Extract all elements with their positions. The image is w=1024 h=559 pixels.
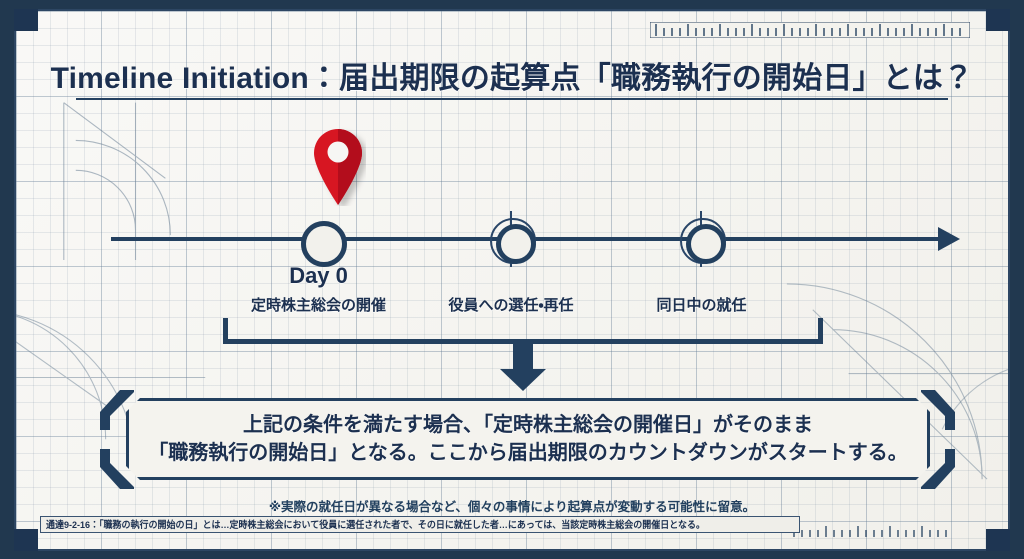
arrow-down-icon — [500, 369, 546, 391]
node-caption-2: 役員への選任・再任 — [448, 294, 573, 315]
citation-text: 通達9-2-16：「職務の執行の開始の日」とは…定時株主総会において役員に選任さ… — [46, 518, 705, 532]
title-block: Timeline Initiation：届出期限の起算点「職務執行の開始日」とは… — [16, 53, 1008, 97]
marker-ring — [686, 224, 726, 264]
footnote-text: ※実際の就任日が異なる場合など、個々の事情により起算点が変動する可能性に留意。 — [16, 496, 1008, 515]
flow-arrow-stem — [513, 342, 533, 372]
conclusion-line-2: 「職務執行の開始日」となる。ここから届出期限のカウントダウンがスタートする。 — [148, 439, 907, 467]
ruler-strip-top — [650, 22, 970, 38]
page-title: Timeline Initiation：届出期限の起算点「職務執行の開始日」とは… — [51, 53, 974, 97]
infographic-slide: Timeline Initiation：届出期限の起算点「職務執行の開始日」とは… — [0, 0, 1024, 559]
frame-corner-top-right — [986, 9, 1010, 31]
conclusion-line-1: 上記の条件を満たす場合、「定時株主総会の開催日」がそのまま — [243, 411, 813, 439]
arrow-right-icon — [938, 227, 960, 251]
day-zero-label: Day 0 — [289, 263, 348, 289]
group-bracket — [223, 318, 823, 344]
conclusion-box: 上記の条件を満たす場合、「定時株主総会の開催日」がそのまま 「職務執行の開始日」… — [126, 398, 930, 480]
frame-corner-bottom-right — [986, 529, 1010, 551]
marker-ring — [496, 224, 536, 264]
node-caption-1: 定時株主総会の開催 — [251, 294, 386, 315]
slide-canvas: Timeline Initiation：届出期限の起算点「職務執行の開始日」とは… — [14, 9, 1010, 551]
node-caption-3: 同日中の就任 — [656, 294, 746, 315]
frame-corner-bottom-left — [14, 529, 38, 551]
title-underline — [76, 98, 948, 100]
marker-ring — [301, 221, 347, 267]
map-pin-icon — [310, 126, 366, 206]
citation-bar: 通達9-2-16：「職務の執行の開始の日」とは…定時株主総会において役員に選任さ… — [40, 516, 800, 533]
frame-corner-top-left — [14, 9, 38, 31]
ruler-strip-bottom — [790, 524, 970, 538]
